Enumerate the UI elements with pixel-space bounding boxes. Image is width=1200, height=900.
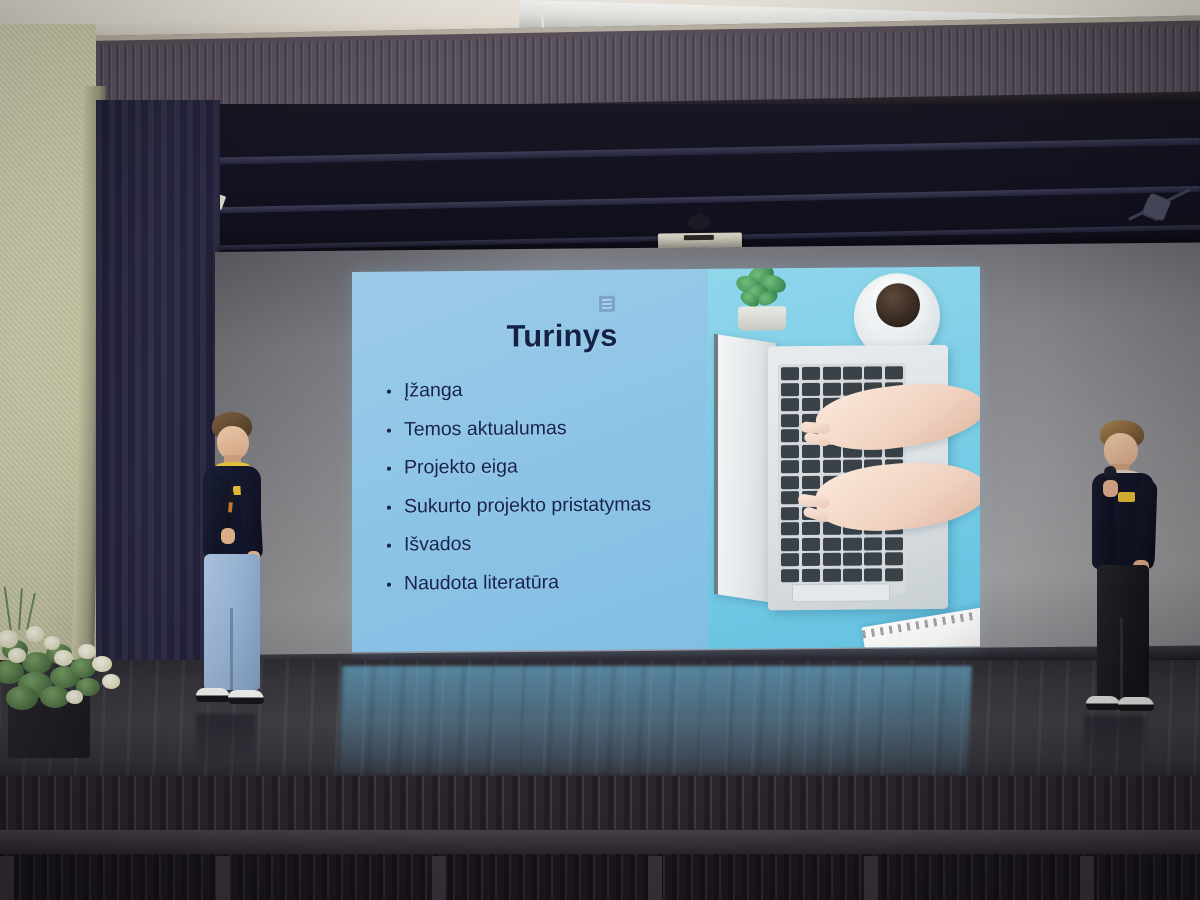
slide-title: Turinys [412, 317, 712, 356]
hand-holding-mic [1103, 480, 1118, 497]
spiral-notebook-icon [861, 607, 980, 649]
list-item: Sukurto projekto pristatymas [382, 492, 722, 518]
stage-presentation-photo: Turinys Įžanga Temos aktualumas Projekto… [0, 0, 1200, 900]
list-item: Projekto eiga [382, 454, 722, 480]
step-post [216, 856, 230, 900]
slide-photo-laptop-hands [708, 267, 980, 649]
list-item: Temos aktualumas [382, 415, 722, 441]
plant-pot [738, 306, 786, 330]
list-item: Išvados [382, 531, 722, 557]
reflection-right-student [1084, 716, 1146, 772]
arm-back [1134, 480, 1157, 569]
leg-seam [230, 608, 233, 690]
hand-holding-mic [221, 528, 235, 544]
step-post [648, 856, 662, 900]
sweater-logo [1118, 492, 1135, 502]
presenter-left [186, 412, 278, 718]
step-post [432, 856, 446, 900]
sneaker-left [1086, 696, 1120, 710]
slide-bullet-list: Įžanga Temos aktualumas Projekto eiga Su… [382, 377, 722, 611]
stage-step [0, 830, 1200, 856]
list-item: Įžanga [382, 377, 722, 403]
coffee-liquid [876, 283, 920, 327]
laptop-lid [714, 334, 776, 603]
leg-seam [1120, 618, 1123, 698]
list-item: Naudota literatūra [382, 569, 722, 595]
projector-mount [688, 214, 710, 230]
step-post [1080, 856, 1094, 900]
slide-watermark-icon [599, 296, 615, 312]
projected-slide: Turinys Įžanga Temos aktualumas Projekto… [352, 267, 980, 652]
stage-front-panel [0, 776, 1200, 838]
laptop-trackpad [792, 583, 890, 602]
sneaker-right [1118, 697, 1154, 711]
flower-bouquet [0, 586, 142, 716]
coffee-cup-icon [867, 275, 929, 338]
reflection-left-student [196, 714, 256, 770]
slide-reflection-on-floor [338, 666, 972, 774]
sneaker-right [228, 690, 264, 704]
step-post [0, 856, 14, 900]
face [1104, 433, 1138, 468]
presenter-right [1078, 420, 1170, 720]
sneaker-left [196, 688, 230, 702]
stage-under-panel [0, 854, 1200, 900]
step-post [864, 856, 878, 900]
black-jeans [1097, 565, 1149, 699]
